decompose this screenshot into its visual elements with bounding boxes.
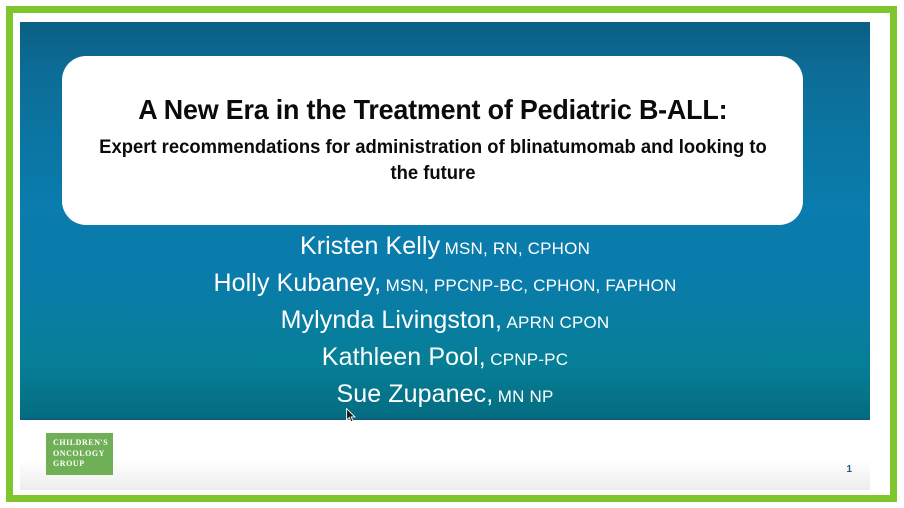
presenter-name: Kathleen Pool, (322, 343, 486, 371)
presenter-name: Mylynda Livingston, (281, 306, 502, 334)
presenter-name: Sue Zupanec, (336, 380, 493, 408)
childrens-oncology-group-logo: CHILDREN'S ONCOLOGY GROUP (46, 433, 113, 475)
presenter-credentials: APRN CPON (507, 313, 610, 332)
list-item: Sue Zupanec, MN NP (20, 382, 870, 407)
presenter-name: Kristen Kelly (300, 232, 440, 260)
presenter-credentials: MSN, PPCNP-BC, CPHON, FAPHON (386, 276, 677, 295)
list-item: Mylynda Livingston, APRN CPON (20, 308, 870, 333)
page-title: A New Era in the Treatment of Pediatric … (138, 94, 727, 125)
list-item: Holly Kubaney, MSN, PPCNP-BC, CPHON, FAP… (20, 271, 870, 296)
presenter-credentials: MSN, RN, CPHON (445, 239, 590, 258)
presenter-name: Holly Kubaney, (213, 269, 381, 297)
slide-viewer: A New Era in the Treatment of Pediatric … (0, 0, 904, 508)
list-item: Kathleen Pool, CPNP-PC (20, 345, 870, 370)
page-subtitle: Expert recommendations for administratio… (98, 135, 767, 187)
logo-line-1: CHILDREN'S (53, 438, 113, 449)
presenter-credentials: CPNP-PC (490, 350, 568, 369)
logo-line-2: ONCOLOGY (53, 449, 113, 460)
logo-line-3: GROUP (53, 459, 113, 470)
presentation-slide[interactable]: A New Era in the Treatment of Pediatric … (20, 22, 870, 490)
slide-bottom-sheen (20, 460, 870, 490)
presenter-credentials: MN NP (498, 387, 554, 406)
presenter-list: Kristen Kelly MSN, RN, CPHON Holly Kuban… (20, 234, 870, 407)
list-item: Kristen Kelly MSN, RN, CPHON (20, 234, 870, 259)
title-card: A New Era in the Treatment of Pediatric … (62, 56, 803, 225)
slide-number: 1 (846, 464, 852, 475)
